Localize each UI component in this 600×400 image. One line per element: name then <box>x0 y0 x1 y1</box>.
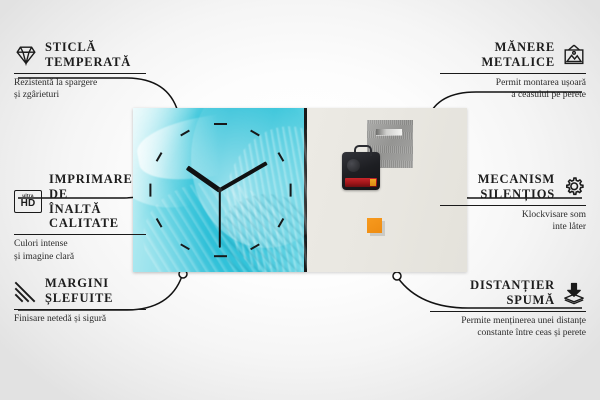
diagonal-stripes-icon <box>14 279 38 303</box>
feature-high-quality-print: ultra HD IMPRIMARE DE ÎNALTĂ CALITATE Cu… <box>14 172 146 263</box>
ultra-hd-icon-main-label: HD <box>21 199 36 209</box>
feature-desc-line1: Permite menținerea unei distanțe <box>430 315 586 328</box>
feature-title-line1: STICLĂ <box>45 40 131 55</box>
feature-desc-line2: constante între ceas și perete <box>430 327 586 340</box>
feature-title-line2: ÎNALTĂ CALITATE <box>49 202 146 232</box>
divider <box>430 311 586 312</box>
clock-center-hub <box>218 188 222 192</box>
feature-desc-line1: Klockvisare som <box>440 209 586 222</box>
clock-tick <box>149 183 151 196</box>
clock-second-hand <box>219 190 221 248</box>
product-photo <box>133 108 467 272</box>
feature-foam-spacer: DISTANȚIER SPUMĂ Permite menținerea unei… <box>430 278 586 340</box>
hanger-loop <box>354 145 372 156</box>
hanger-slot <box>376 129 402 135</box>
feature-title-line2: ȘLEFUITE <box>45 291 113 306</box>
connector-dot-foam <box>393 272 401 280</box>
quartz-movement <box>342 152 380 190</box>
clock-tick <box>214 123 227 125</box>
diamond-icon <box>14 43 38 67</box>
clock-front-face <box>133 108 307 272</box>
feature-title-line2: TEMPERATĂ <box>45 55 131 70</box>
feature-desc-line1: Permit montarea ușoară <box>440 77 586 90</box>
feature-desc-line2: a ceasului pe perete <box>440 89 586 102</box>
feature-title-line2: SPUMĂ <box>470 293 555 308</box>
feature-title-line1: MARGINI <box>45 276 113 291</box>
divider <box>14 309 146 310</box>
picture-frame-icon <box>562 43 586 67</box>
feature-desc-line1: Rezistentă la spargere <box>14 77 146 90</box>
feature-polished-edges: MARGINI ȘLEFUITE Finisare netedă și sigu… <box>14 276 146 325</box>
movement-dial <box>347 159 360 172</box>
divider <box>14 234 146 235</box>
clock-tick <box>214 255 227 257</box>
feature-title-line1: IMPRIMARE DE <box>49 172 146 202</box>
feature-desc-line2: inte låter <box>440 221 586 234</box>
divider <box>14 73 146 74</box>
feature-title-line1: MĂNERE <box>481 40 555 55</box>
ultra-hd-icon: ultra HD <box>14 190 42 213</box>
feature-silent-mechanism: MECANISM SILENȚIOS Klockvisare som inte … <box>440 172 586 234</box>
clock-tick <box>289 183 291 196</box>
foam-spacer <box>367 218 382 233</box>
divider <box>440 205 586 206</box>
down-arrow-stack-icon <box>562 281 586 305</box>
feature-title-line2: METALICE <box>481 55 555 70</box>
feature-title-line1: DISTANȚIER <box>470 278 555 293</box>
feature-title-line2: SILENȚIOS <box>478 187 555 202</box>
feature-desc-line1: Culori intense <box>14 238 146 251</box>
feature-desc-line1: Finisare netedă și sigură <box>14 313 146 326</box>
feature-metal-handles: MĂNERE METALICE Permit montarea ușoară a… <box>440 40 586 102</box>
battery <box>345 178 377 187</box>
feature-desc-line2: și imagine clară <box>14 251 146 264</box>
feature-title-line1: MECANISM <box>478 172 555 187</box>
feature-desc-line2: și zgârieturi <box>14 89 146 102</box>
infographic-canvas: STICLĂ TEMPERATĂ Rezistentă la spargere … <box>0 0 600 400</box>
feature-tempered-glass: STICLĂ TEMPERATĂ Rezistentă la spargere … <box>14 40 146 102</box>
gear-icon <box>562 175 586 199</box>
divider <box>440 73 586 74</box>
